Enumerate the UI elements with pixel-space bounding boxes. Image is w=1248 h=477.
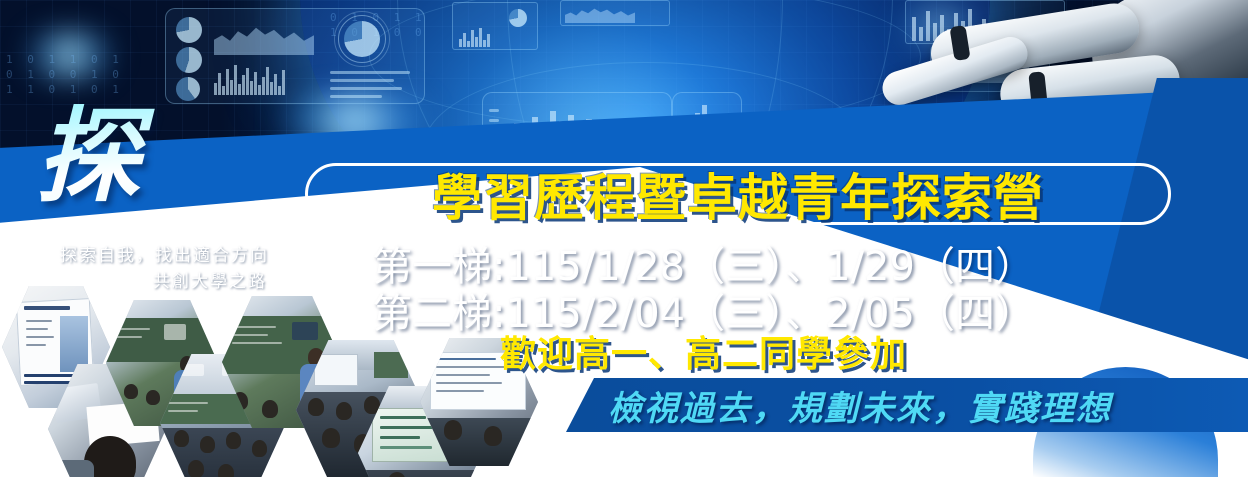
brand-title-char-2: 索 <box>184 148 290 252</box>
hud-panel <box>452 2 538 50</box>
area-chart-overlay <box>214 21 314 55</box>
audience-note: 歡迎高一、高二同學參加 <box>500 325 907 377</box>
tagline-line-1: 探索自我，找出適合方向 <box>60 246 269 265</box>
brand-title: 探索 <box>36 104 290 208</box>
slogan: 檢視過去，規劃未來，實踐理想 <box>608 382 1228 428</box>
dashboard-hud-panel <box>165 8 425 104</box>
bar-chart-overlay <box>214 63 285 95</box>
event-banner: 1 0 1 1 0 1 0 1 0 0 1 0 1 1 0 1 0 1 0 1 … <box>0 0 1248 477</box>
pie-chart-overlay <box>176 77 200 101</box>
bar-chart-overlay <box>459 27 490 47</box>
tagline-line-2: 共創大學之路 <box>60 269 269 295</box>
hud-panel <box>560 0 670 26</box>
pie-chart-overlay <box>176 47 202 73</box>
tagline: 探索自我，找出適合方向 共創大學之路 <box>60 243 269 295</box>
event-title: 學習歷程暨卓越青年探索營 <box>312 165 1164 223</box>
brand-title-char-1: 探 <box>36 104 142 208</box>
pie-chart-overlay <box>176 17 202 43</box>
binary-code-overlay: 1 0 1 1 0 1 0 1 0 0 1 0 1 1 0 1 0 1 <box>6 52 123 97</box>
